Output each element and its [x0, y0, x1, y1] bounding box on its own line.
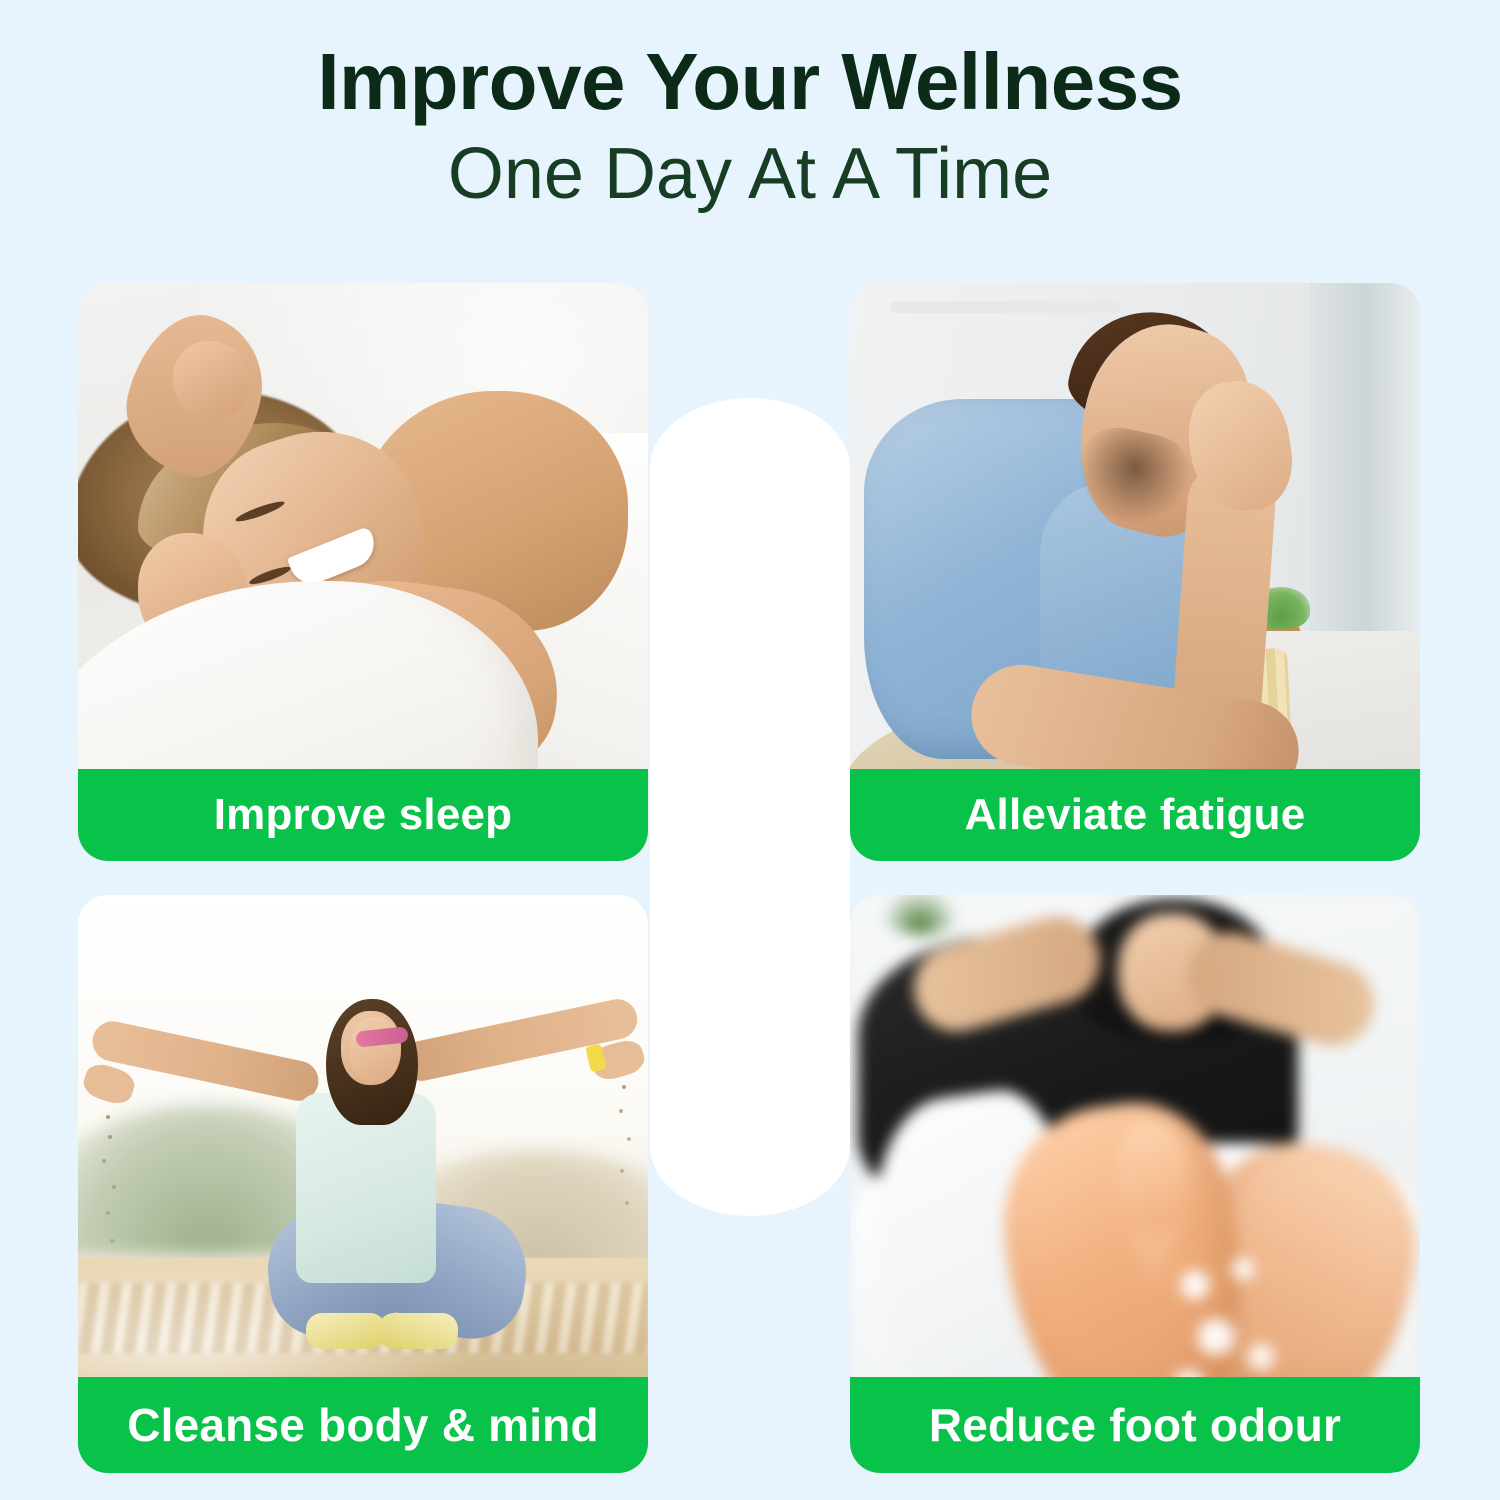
benefit-card-alleviate-fatigue[interactable]: Alleviate fatigue — [850, 283, 1420, 861]
center-divider-band — [650, 398, 850, 1216]
benefit-card-reduce-foot-odour[interactable]: Reduce foot odour — [850, 895, 1420, 1473]
benefit-label-reduce-foot-odour: Reduce foot odour — [850, 1377, 1420, 1473]
headline-line-1: Improve Your Wellness — [0, 42, 1500, 122]
promo-banner: Improve Your Wellness One Day At A Time … — [0, 0, 1500, 1500]
headline-block: Improve Your Wellness One Day At A Time — [0, 42, 1500, 226]
benefit-label-improve-sleep: Improve sleep — [78, 769, 648, 861]
benefit-label-alleviate-fatigue: Alleviate fatigue — [850, 769, 1420, 861]
headline-line-2: One Day At A Time — [0, 122, 1500, 226]
benefit-card-cleanse-body-mind[interactable]: Cleanse body & mind — [78, 895, 648, 1473]
benefit-card-improve-sleep[interactable]: Improve sleep — [78, 283, 648, 861]
benefit-label-cleanse-body-mind: Cleanse body & mind — [78, 1377, 648, 1473]
